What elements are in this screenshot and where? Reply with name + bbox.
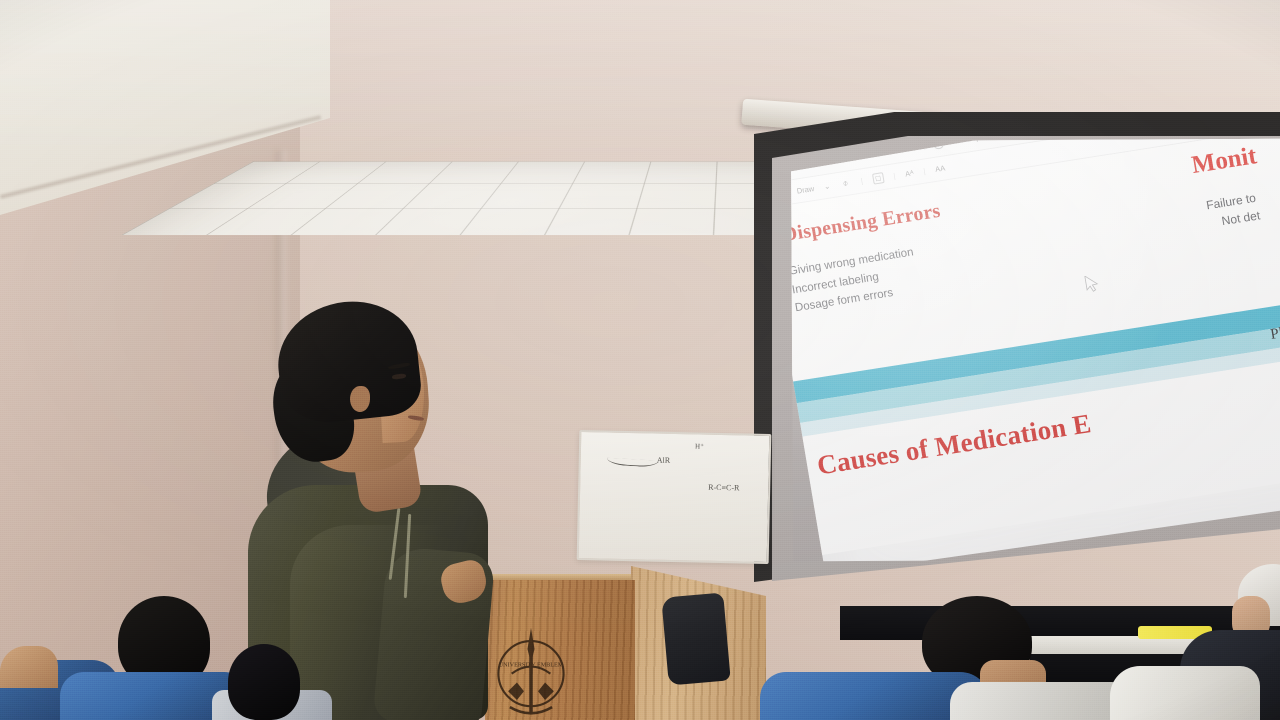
- ear: [350, 386, 370, 412]
- student-shoulder-right-2: [1110, 666, 1260, 720]
- draw-caret-icon[interactable]: ⌄: [823, 181, 831, 191]
- student-head-left-2: [228, 644, 300, 720]
- toolbar2-divider-2: |: [893, 171, 896, 180]
- whiteboard-note-1: AlR: [657, 456, 671, 465]
- toolbar2-divider-3: |: [923, 167, 926, 176]
- whiteboard: AlR H⁺ R-C≡C-R: [577, 430, 772, 564]
- highlight-icon[interactable]: ☐: [872, 172, 885, 185]
- projector-screen: ○ File C:/Users/media/2019%_/ae20%6.pdf …: [744, 112, 1280, 612]
- hair: [272, 295, 424, 427]
- student-shirt-right-1: [950, 682, 1130, 720]
- draw-button[interactable]: Draw: [796, 184, 815, 196]
- whiteboard-stroke: [607, 458, 659, 468]
- backpack: [661, 592, 730, 685]
- text-size-up-button[interactable]: Aᴬ: [904, 168, 914, 178]
- projection-content: ○ File C:/Users/media/2019%_/ae20%6.pdf …: [787, 139, 1280, 562]
- projected-image: ○ File C:/Users/media/2019%_/ae20%6.pdf …: [787, 139, 1280, 562]
- slide-monitoring-errors: Monit Failure to Not det: [1105, 139, 1280, 328]
- student-arm-left-edge: [0, 646, 58, 688]
- slide-monitoring-lines: Failure to Not det: [1132, 177, 1280, 243]
- text-size-button[interactable]: AA: [934, 163, 945, 173]
- whiteboard-note-2: H⁺: [695, 442, 704, 450]
- toolbar2-divider: |: [860, 176, 863, 185]
- whiteboard-note-3: R-C≡C-R: [708, 483, 739, 493]
- lecture-hall-photo: ○ File C:/Users/media/2019%_/ae20%6.pdf …: [0, 0, 1280, 720]
- erase-icon[interactable]: ⌽: [839, 177, 852, 190]
